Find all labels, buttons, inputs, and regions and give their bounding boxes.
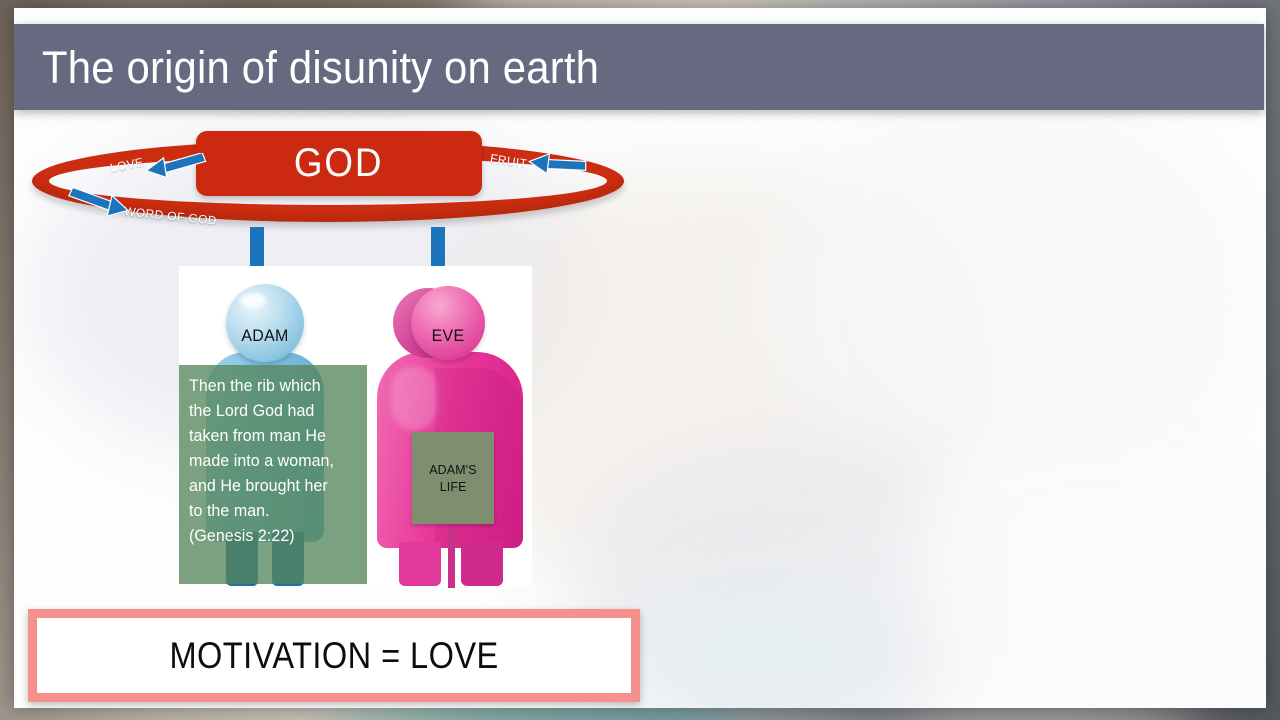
background-shape-5 [914, 438, 1266, 708]
adam-head [226, 284, 304, 362]
eve-leg-left [399, 542, 441, 586]
slide-title-bar: The origin of disunity on earth [14, 24, 1264, 110]
god-banner-label: GOD [294, 141, 383, 186]
left-arrow-icon [144, 153, 208, 179]
left-arrow-icon [527, 153, 589, 179]
adams-life-sign[interactable]: ADAM'S LIFE [412, 432, 494, 524]
background-shape-3 [774, 108, 1234, 488]
adam-head-highlight [240, 293, 266, 308]
god-banner[interactable]: GOD [196, 131, 482, 196]
scripture-text: Then the rib which the Lord God had take… [189, 374, 352, 549]
slide-canvas: The origin of disunity on earth GOD LOVE… [14, 8, 1266, 708]
eve-body-highlight [391, 366, 437, 430]
scripture-callout: Then the rib which the Lord God had take… [179, 365, 367, 584]
right-arrow-icon [67, 188, 133, 218]
page-title: The origin of disunity on earth [42, 45, 599, 90]
sign-label-line1: ADAM'S [429, 461, 476, 478]
eve-head [411, 286, 485, 360]
eve-leg-right [461, 542, 503, 586]
motivation-text: MOTIVATION = LOVE [169, 635, 498, 677]
motivation-callout[interactable]: MOTIVATION = LOVE [28, 609, 640, 702]
slide-frame: The origin of disunity on earth GOD LOVE… [0, 0, 1280, 720]
figure-label-eve: EVE [413, 326, 483, 346]
sign-label-line2: LIFE [440, 478, 467, 495]
figure-label-adam: ADAM [228, 326, 301, 346]
background-shape-6 [634, 568, 894, 708]
